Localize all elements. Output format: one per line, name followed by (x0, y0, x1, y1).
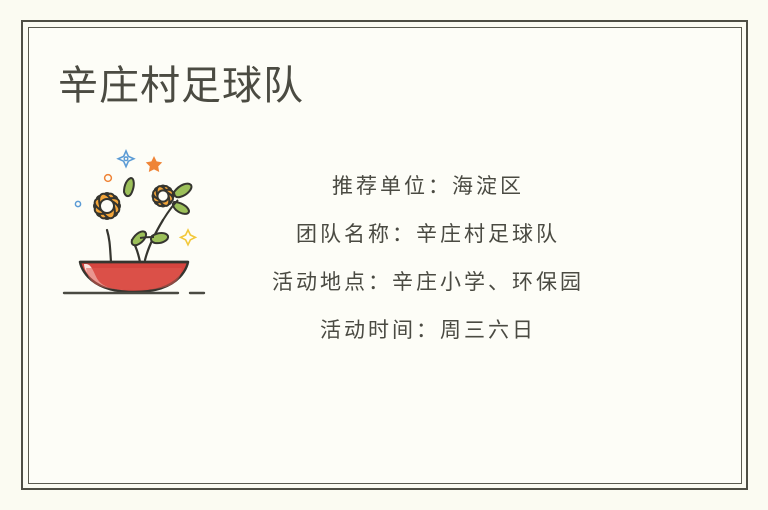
info-value-location: 辛庄小学、环保园 (392, 270, 584, 294)
daisy-flower-large (92, 191, 121, 220)
info-line-recommender: 推荐单位：海淀区 (198, 162, 658, 210)
info-line-location: 活动地点：辛庄小学、环保园 (198, 258, 658, 306)
flower-pot (80, 262, 188, 292)
page-title: 辛庄村足球队 (58, 58, 304, 114)
info-label-location: 活动地点： (272, 270, 392, 294)
circle-outline-orange-icon (105, 175, 112, 182)
info-label-recommender: 推荐单位： (332, 174, 452, 198)
info-text-block: 推荐单位：海淀区 团队名称：辛庄村足球队 活动地点：辛庄小学、环保园 活动时间：… (198, 162, 658, 354)
daisy-flower-small (151, 184, 174, 207)
sparkle-yellow-icon (181, 230, 196, 245)
info-value-recommender: 海淀区 (452, 174, 524, 198)
info-line-team-name: 团队名称：辛庄村足球队 (198, 210, 658, 258)
info-label-team-name: 团队名称： (296, 222, 416, 246)
info-card: 辛庄村足球队 (0, 0, 768, 510)
leaf-sprig-middle (124, 178, 134, 196)
info-value-team-name: 辛庄村足球队 (416, 222, 560, 246)
sparkle-blue-icon (118, 151, 134, 167)
info-value-time: 周三六日 (440, 318, 536, 342)
sparkle-blue-small-icon (75, 201, 80, 206)
sparkle-orange-icon (146, 156, 162, 172)
info-label-time: 活动时间： (320, 318, 440, 342)
info-line-time: 活动时间：周三六日 (198, 306, 658, 354)
